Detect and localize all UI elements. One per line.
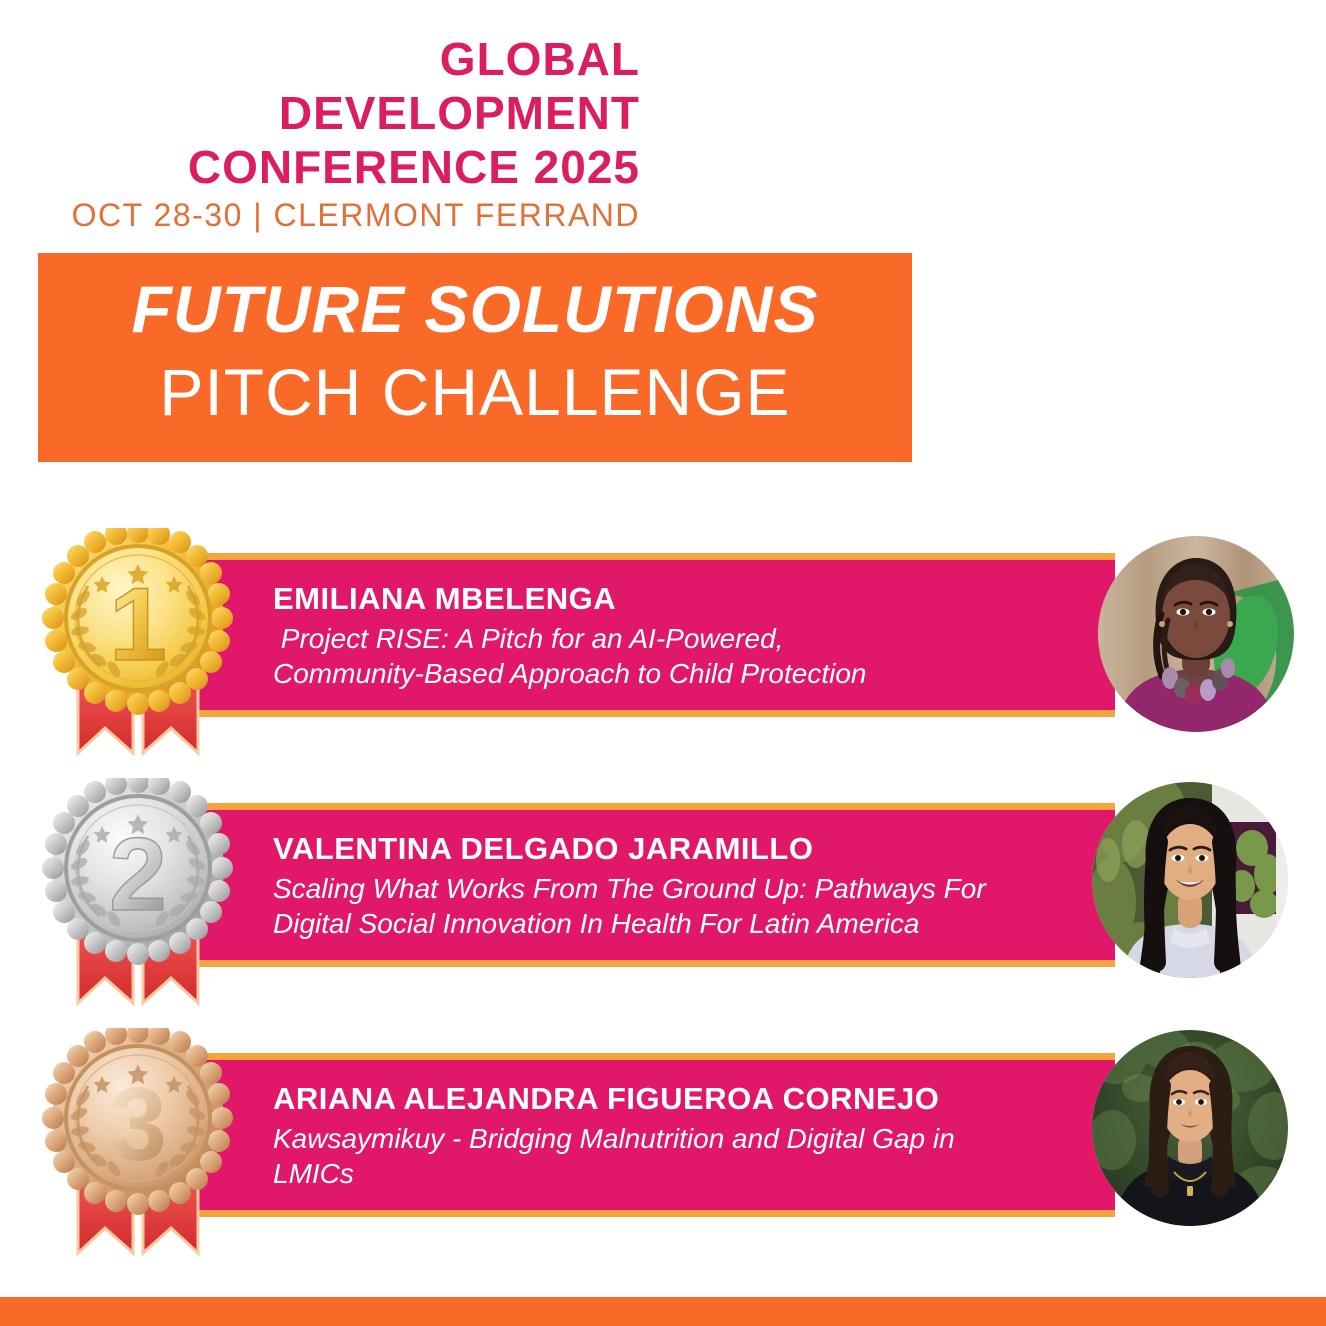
conference-header: GLOBAL DEVELOPMENT CONFERENCE 2025 OCT 2… [0, 0, 1326, 250]
winner-text-block: EMILIANA MBELENGA Project RISE: A Pitch … [273, 579, 1073, 691]
silver-medal-icon: 2 [38, 778, 238, 1018]
winner-row: VALENTINA DELGADO JARAMILLO Scaling What… [0, 778, 1326, 1028]
winner-name: ARIANA ALEJANDRA FIGUEROA CORNEJO [273, 1079, 1073, 1119]
winner-text-block: VALENTINA DELGADO JARAMILLO Scaling What… [273, 829, 1073, 941]
banner-title-line-1: FUTURE SOLUTIONS [38, 271, 912, 347]
conference-title-line-2: DEVELOPMENT [0, 86, 640, 140]
winner-photo [1092, 1030, 1288, 1226]
winner-photo [1092, 782, 1288, 978]
conference-date-location: OCT 28-30 | CLERMONT FERRAND [0, 196, 640, 234]
conference-title-line-1: GLOBAL [0, 32, 640, 86]
winner-text-block: ARIANA ALEJANDRA FIGUEROA CORNEJO Kawsay… [273, 1079, 1073, 1191]
medal-rank-number: 3 [109, 1067, 167, 1183]
conference-title-line-3: CONFERENCE 2025 [0, 140, 640, 194]
winner-banner: EMILIANA MBELENGA Project RISE: A Pitch … [145, 553, 1115, 717]
bronze-medal-icon: 3 [38, 1028, 238, 1268]
winner-photo [1098, 536, 1294, 732]
winner-name: VALENTINA DELGADO JARAMILLO [273, 829, 1073, 869]
winner-name: EMILIANA MBELENGA [273, 579, 1073, 619]
winner-project-title: Kawsaymikuy - Bridging Malnutrition and … [273, 1121, 1073, 1191]
winner-project-title: Scaling What Works From The Ground Up: P… [273, 871, 1073, 941]
winner-banner: ARIANA ALEJANDRA FIGUEROA CORNEJO Kawsay… [145, 1053, 1115, 1217]
winner-row: EMILIANA MBELENGA Project RISE: A Pitch … [0, 528, 1326, 778]
medal-rank-number: 2 [109, 817, 167, 933]
winner-row: ARIANA ALEJANDRA FIGUEROA CORNEJO Kawsay… [0, 1028, 1326, 1278]
gold-medal-icon: 1 [38, 528, 238, 768]
pitch-challenge-banner: FUTURE SOLUTIONS PITCH CHALLENGE [38, 253, 912, 462]
winner-banner: VALENTINA DELGADO JARAMILLO Scaling What… [145, 803, 1115, 967]
medal-rank-number: 1 [109, 567, 167, 683]
winner-project-title: Project RISE: A Pitch for an AI-Powered,… [273, 621, 1073, 691]
banner-title-line-2: PITCH CHALLENGE [38, 353, 912, 431]
footer-accent-bar [0, 1297, 1326, 1326]
